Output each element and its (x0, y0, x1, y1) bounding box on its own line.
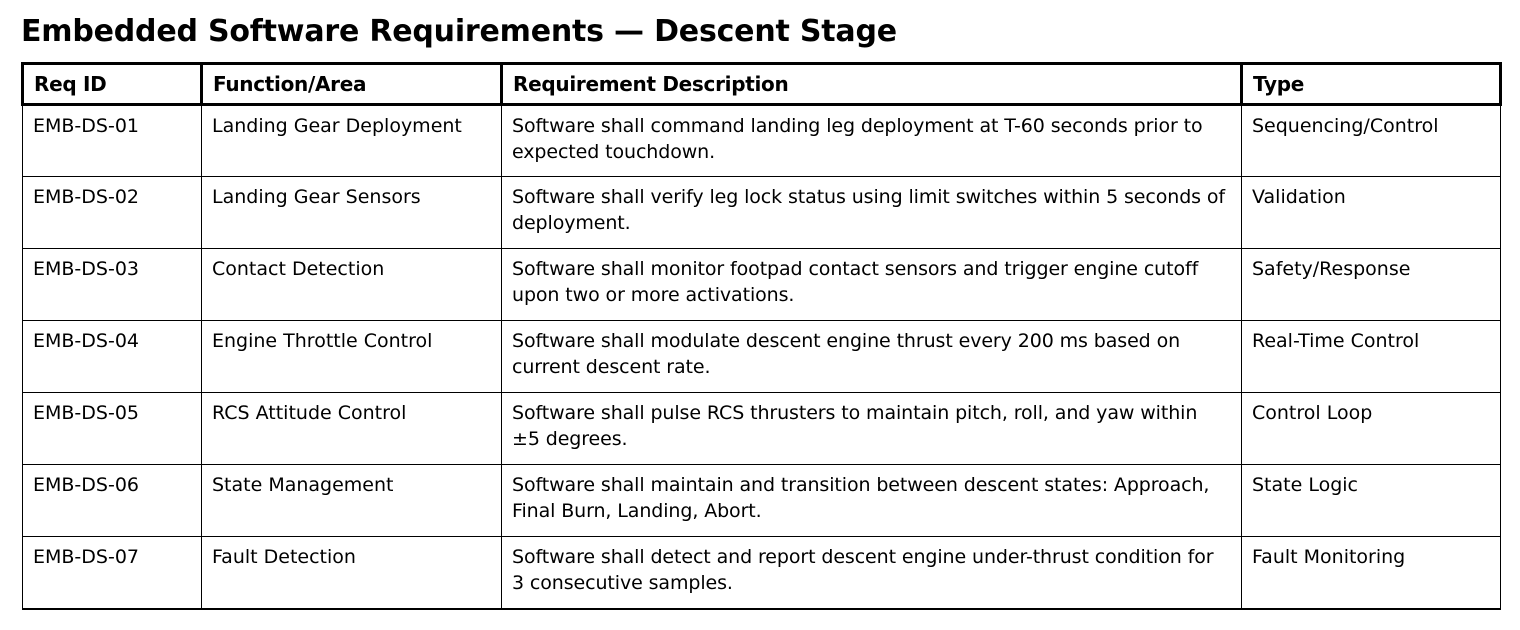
cell-function: Engine Throttle Control (202, 321, 502, 393)
cell-function: Landing Gear Deployment (202, 105, 502, 177)
cell-type: Fault Monitoring (1242, 537, 1501, 609)
cell-description: Software shall command landing leg deplo… (502, 105, 1242, 177)
cell-function: Contact Detection (202, 249, 502, 321)
page-title: Embedded Software Requirements — Descent… (21, 14, 897, 50)
table-header-row: Req ID Function/Area Requirement Descrip… (23, 64, 1501, 105)
column-header-type: Type (1242, 64, 1501, 105)
cell-type: Real-Time Control (1242, 321, 1501, 393)
table-row: EMB-DS-04 Engine Throttle Control Softwa… (23, 321, 1501, 393)
column-header-req-id: Req ID (23, 64, 202, 105)
cell-req-id: EMB-DS-02 (23, 177, 202, 249)
cell-req-id: EMB-DS-03 (23, 249, 202, 321)
cell-type: Sequencing/Control (1242, 105, 1501, 177)
table-row: EMB-DS-01 Landing Gear Deployment Softwa… (23, 105, 1501, 177)
cell-description: Software shall monitor footpad contact s… (502, 249, 1242, 321)
requirements-table: Req ID Function/Area Requirement Descrip… (21, 62, 1502, 610)
table-row: EMB-DS-06 State Management Software shal… (23, 465, 1501, 537)
document-page: Embedded Software Requirements — Descent… (0, 0, 1520, 630)
table-header: Req ID Function/Area Requirement Descrip… (23, 64, 1501, 105)
column-header-description: Requirement Description (502, 64, 1242, 105)
cell-description: Software shall pulse RCS thrusters to ma… (502, 393, 1242, 465)
cell-description: Software shall maintain and transition b… (502, 465, 1242, 537)
cell-req-id: EMB-DS-07 (23, 537, 202, 609)
cell-function: RCS Attitude Control (202, 393, 502, 465)
cell-description: Software shall detect and report descent… (502, 537, 1242, 609)
table-body: EMB-DS-01 Landing Gear Deployment Softwa… (23, 105, 1501, 609)
cell-type: State Logic (1242, 465, 1501, 537)
cell-type: Validation (1242, 177, 1501, 249)
cell-function: Landing Gear Sensors (202, 177, 502, 249)
cell-type: Safety/Response (1242, 249, 1501, 321)
cell-type: Control Loop (1242, 393, 1501, 465)
table-row: EMB-DS-07 Fault Detection Software shall… (23, 537, 1501, 609)
cell-req-id: EMB-DS-01 (23, 105, 202, 177)
cell-req-id: EMB-DS-06 (23, 465, 202, 537)
cell-function: State Management (202, 465, 502, 537)
cell-function: Fault Detection (202, 537, 502, 609)
cell-description: Software shall modulate descent engine t… (502, 321, 1242, 393)
table-row: EMB-DS-03 Contact Detection Software sha… (23, 249, 1501, 321)
table-row: EMB-DS-05 RCS Attitude Control Software … (23, 393, 1501, 465)
cell-req-id: EMB-DS-05 (23, 393, 202, 465)
cell-req-id: EMB-DS-04 (23, 321, 202, 393)
cell-description: Software shall verify leg lock status us… (502, 177, 1242, 249)
table-row: EMB-DS-02 Landing Gear Sensors Software … (23, 177, 1501, 249)
column-header-function: Function/Area (202, 64, 502, 105)
